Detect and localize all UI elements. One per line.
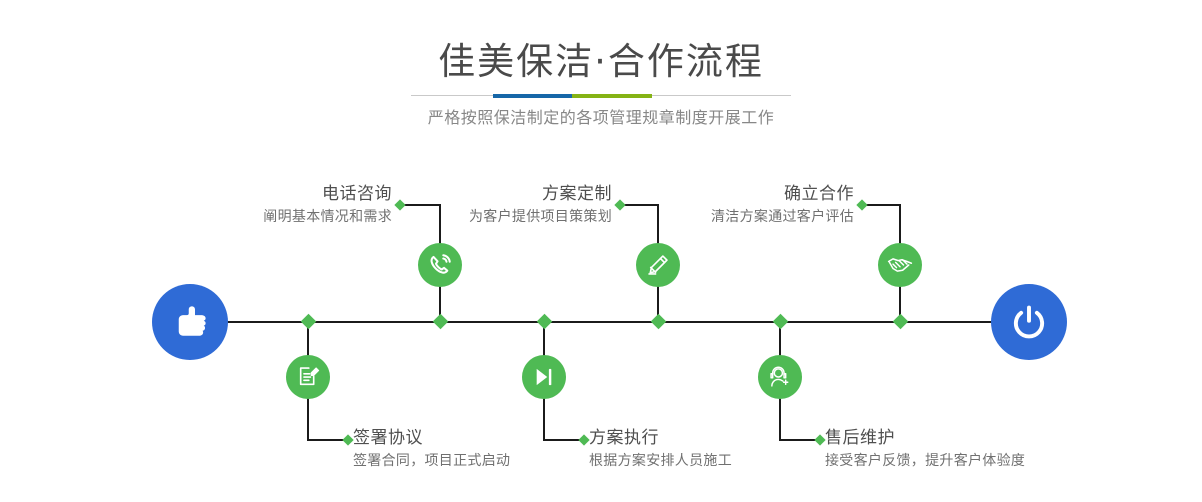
pen-design-icon: [645, 252, 671, 278]
step6-icon-node[interactable]: [758, 355, 802, 399]
step1-title: 电话咨询: [190, 182, 392, 206]
step5-desc: 清洁方案通过客户评估: [652, 206, 854, 228]
step6-title: 售后维护: [825, 426, 1025, 450]
step4-desc: 根据方案安排人员施工: [589, 450, 732, 472]
step3-label-marker: [614, 199, 625, 210]
page-subtitle: 严格按照保洁制定的各项管理规章制度开展工作: [0, 105, 1202, 131]
step4-axis-marker: [537, 314, 553, 330]
timeline-start-node[interactable]: [152, 284, 228, 360]
timeline-end-node[interactable]: [991, 284, 1067, 360]
step6-desc: 接受客户反馈，提升客户体验度: [825, 450, 1025, 472]
step3-icon-node[interactable]: [636, 243, 680, 287]
process-flow-infographic: 佳美保洁·合作流程 严格按照保洁制定的各项管理规章制度开展工作: [0, 0, 1202, 502]
step4-connector-horizontal: [543, 439, 582, 441]
pointing-hand-icon: [170, 302, 210, 342]
step1-label: 电话咨询 阐明基本情况和需求: [190, 182, 392, 228]
divider-green-segment: [572, 94, 652, 98]
step4-icon-node[interactable]: [522, 355, 566, 399]
step2-label: 签署协议 签署合同，项目正式启动: [353, 426, 510, 472]
document-edit-icon: [295, 364, 321, 390]
step6-axis-marker: [773, 314, 789, 330]
step4-label: 方案执行 根据方案安排人员施工: [589, 426, 732, 472]
step2-label-marker: [342, 434, 353, 445]
step6-connector-horizontal: [779, 439, 818, 441]
step5-icon-node[interactable]: [878, 243, 922, 287]
divider-blue-segment: [493, 94, 572, 98]
title-divider: [411, 94, 791, 98]
customer-support-icon: [767, 364, 793, 390]
step5-title: 确立合作: [652, 182, 854, 206]
step2-axis-marker: [301, 314, 317, 330]
step4-label-marker: [578, 434, 589, 445]
step3-desc: 为客户提供项目策策划: [410, 206, 612, 228]
step5-label: 确立合作 清洁方案通过客户评估: [652, 182, 854, 228]
step2-desc: 签署合同，项目正式启动: [353, 450, 510, 472]
step1-icon-node[interactable]: [418, 243, 462, 287]
step1-label-marker: [394, 199, 405, 210]
step3-title: 方案定制: [410, 182, 612, 206]
page-title: 佳美保洁·合作流程: [0, 38, 1202, 86]
step4-title: 方案执行: [589, 426, 732, 450]
step1-axis-marker: [433, 314, 449, 330]
step6-label-marker: [814, 434, 825, 445]
step2-icon-node[interactable]: [286, 355, 330, 399]
phone-call-icon: [427, 252, 453, 278]
step1-desc: 阐明基本情况和需求: [190, 206, 392, 228]
step5-axis-marker: [893, 314, 909, 330]
play-next-icon: [531, 364, 557, 390]
step3-axis-marker: [651, 314, 667, 330]
handshake-icon: [886, 251, 914, 279]
step3-label: 方案定制 为客户提供项目策策划: [410, 182, 612, 228]
step5-label-marker: [856, 199, 867, 210]
step2-connector-horizontal: [307, 439, 346, 441]
step2-title: 签署协议: [353, 426, 510, 450]
step6-label: 售后维护 接受客户反馈，提升客户体验度: [825, 426, 1025, 472]
power-icon: [1008, 301, 1050, 343]
